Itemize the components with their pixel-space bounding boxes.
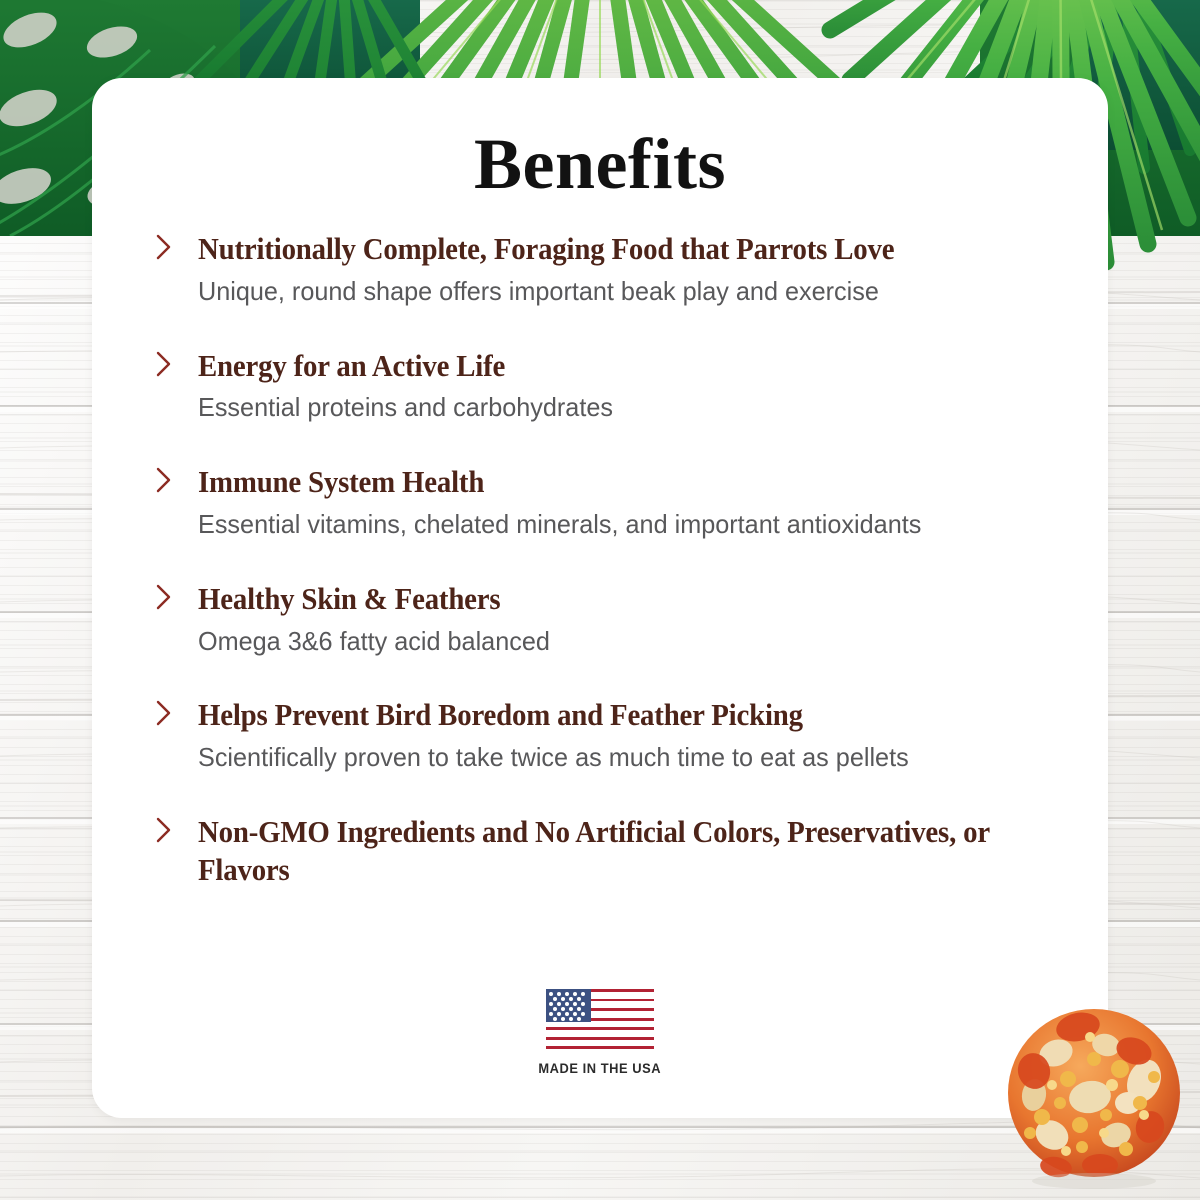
list-item: Healthy Skin & Feathers Omega 3&6 fatty …	[148, 580, 1068, 659]
list-item: Energy for an Active Life Essential prot…	[148, 347, 1068, 426]
benefits-list: Nutritionally Complete, Foraging Food th…	[148, 230, 1068, 889]
usa-flag-icon	[546, 989, 654, 1051]
chevron-right-icon	[152, 465, 176, 495]
benefit-subtext: Essential proteins and carbohydrates	[198, 391, 1042, 425]
benefit-heading: Helps Prevent Bird Boredom and Feather P…	[198, 696, 1007, 734]
benefit-subtext: Unique, round shape offers important bea…	[198, 275, 1042, 309]
chevron-right-icon	[152, 698, 176, 728]
benefit-heading: Energy for an Active Life	[198, 347, 1007, 385]
made-in-usa-badge: MADE IN THE USA	[92, 989, 1108, 1076]
benefit-heading: Nutritionally Complete, Foraging Food th…	[198, 230, 1007, 268]
benefit-heading: Immune System Health	[198, 463, 1007, 501]
benefit-heading: Healthy Skin & Feathers	[198, 580, 1007, 618]
chevron-right-icon	[152, 349, 176, 379]
list-item: Non-GMO Ingredients and No Artificial Co…	[148, 813, 1068, 889]
product-illustration	[994, 985, 1194, 1190]
list-item: Immune System Health Essential vitamins,…	[148, 463, 1068, 542]
list-item: Nutritionally Complete, Foraging Food th…	[148, 230, 1068, 309]
infographic-stage: Benefits Nutritionally Complete, Foragin…	[0, 0, 1200, 1200]
flag-stars	[546, 989, 591, 1022]
content-card: Benefits Nutritionally Complete, Foragin…	[92, 78, 1108, 1118]
benefit-subtext: Scientifically proven to take twice as m…	[198, 741, 1042, 775]
list-item: Helps Prevent Bird Boredom and Feather P…	[148, 696, 1068, 775]
benefit-subtext: Omega 3&6 fatty acid balanced	[198, 625, 1042, 659]
benefit-subtext: Essential vitamins, chelated minerals, a…	[198, 508, 1042, 542]
page-title: Benefits	[92, 78, 1108, 200]
benefit-heading: Non-GMO Ingredients and No Artificial Co…	[198, 813, 1007, 889]
made-in-usa-caption: MADE IN THE USA	[539, 1060, 662, 1076]
chevron-right-icon	[152, 815, 176, 845]
chevron-right-icon	[152, 232, 176, 262]
chevron-right-icon	[152, 582, 176, 612]
bird-food-foraging-ball-image	[994, 985, 1194, 1190]
flag-canton	[546, 989, 591, 1022]
